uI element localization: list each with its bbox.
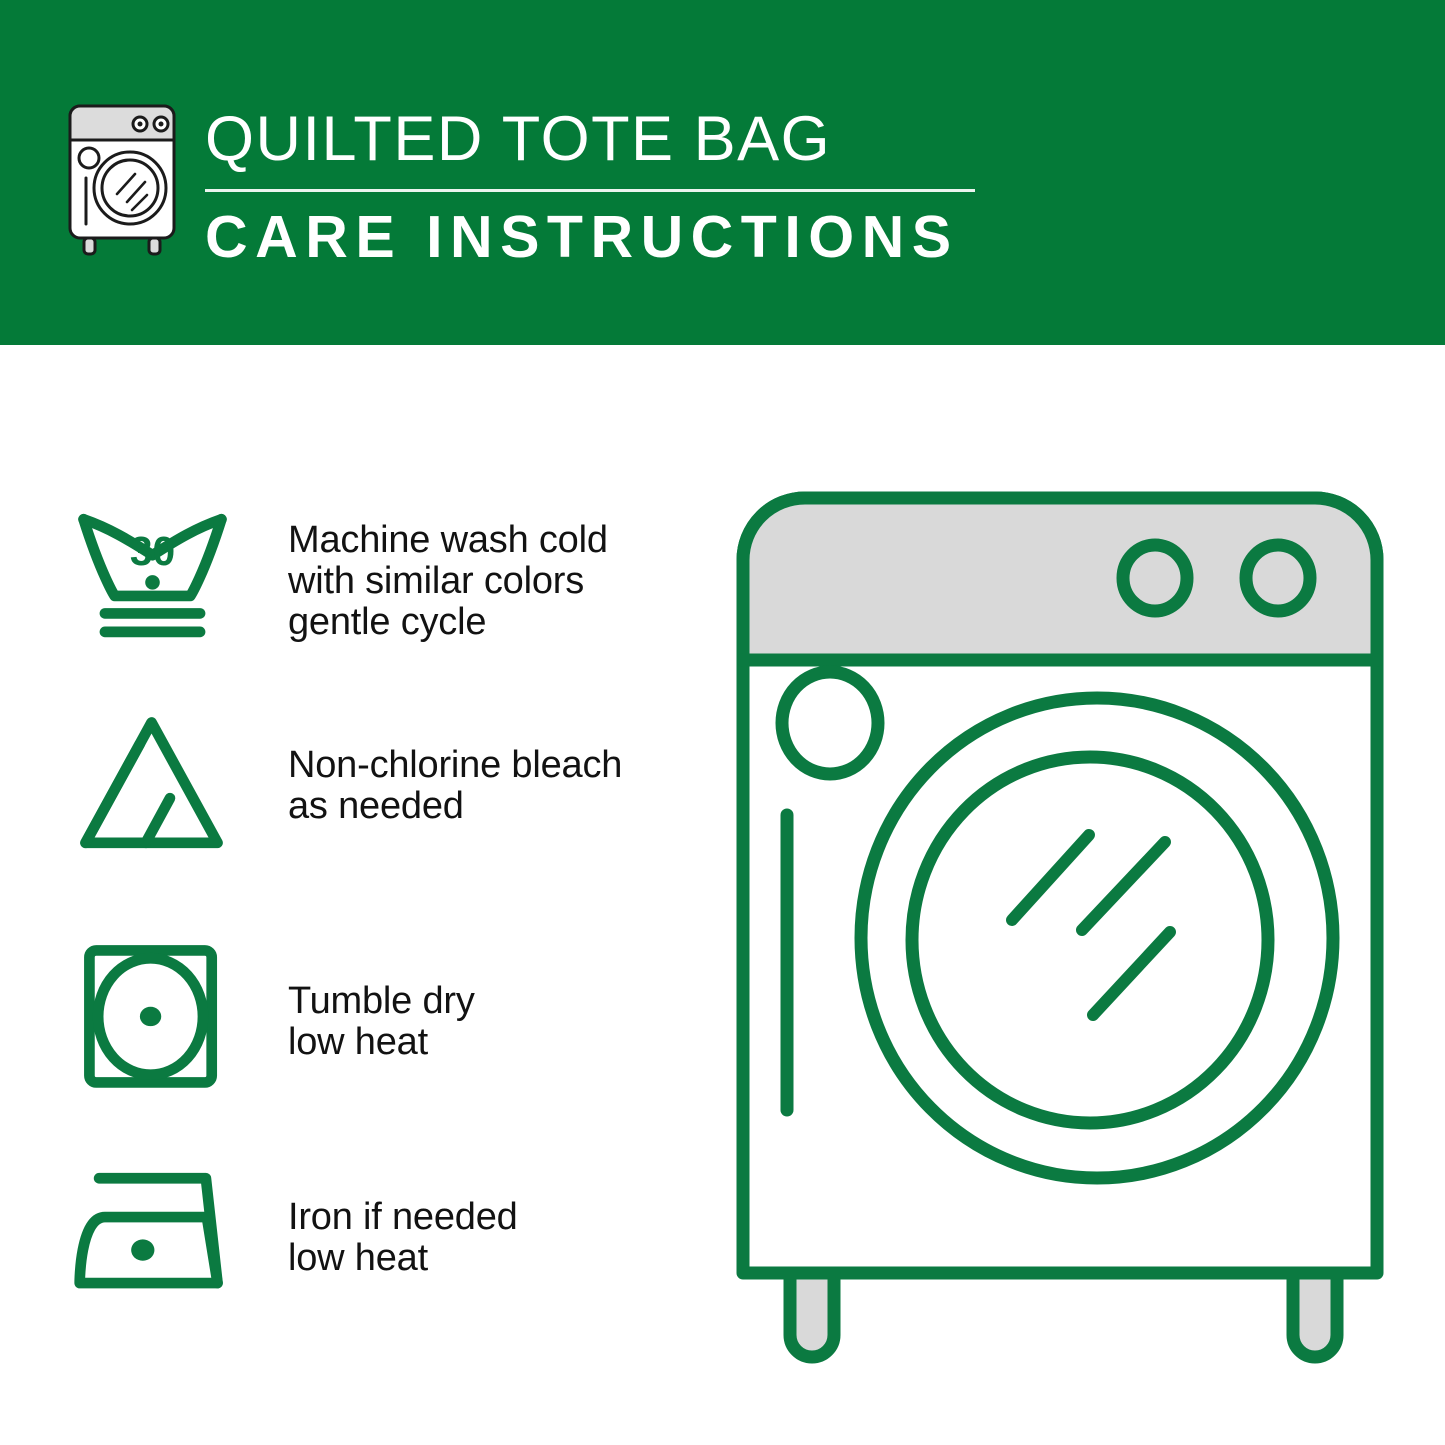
care-instruction-text: Machine wash cold with similar colors ge… — [288, 520, 608, 643]
page-title: QUILTED TOTE BAG — [205, 103, 995, 175]
page-subtitle: CARE INSTRUCTIONS — [205, 204, 995, 270]
care-instruction-text: Iron if needed low heat — [288, 1197, 518, 1279]
care-instruction-list: 30 Machine wash cold with similar colors… — [0, 345, 700, 1445]
iron-low-heat-symbol — [70, 1153, 235, 1318]
care-instructions-infographic: QUILTED TOTE BAG CARE INSTRUCTIONS — [0, 0, 1445, 1445]
washing-machine-illustration — [715, 470, 1405, 1380]
tumble-dry-low-symbol — [70, 933, 235, 1098]
care-instruction-text: Non-chlorine bleach as needed — [288, 745, 622, 827]
header-text-block: QUILTED TOTE BAG CARE INSTRUCTIONS — [205, 103, 995, 270]
non-chlorine-bleach-symbol — [70, 705, 235, 870]
washing-machine-icon — [62, 100, 182, 260]
title-divider — [205, 189, 975, 192]
wash-temperature-label: 30 — [130, 528, 175, 574]
care-instruction-text: Tumble dry low heat — [288, 981, 475, 1063]
machine-wash-30-gentle-symbol: 30 — [70, 495, 235, 660]
header-band: QUILTED TOTE BAG CARE INSTRUCTIONS — [0, 0, 1445, 345]
